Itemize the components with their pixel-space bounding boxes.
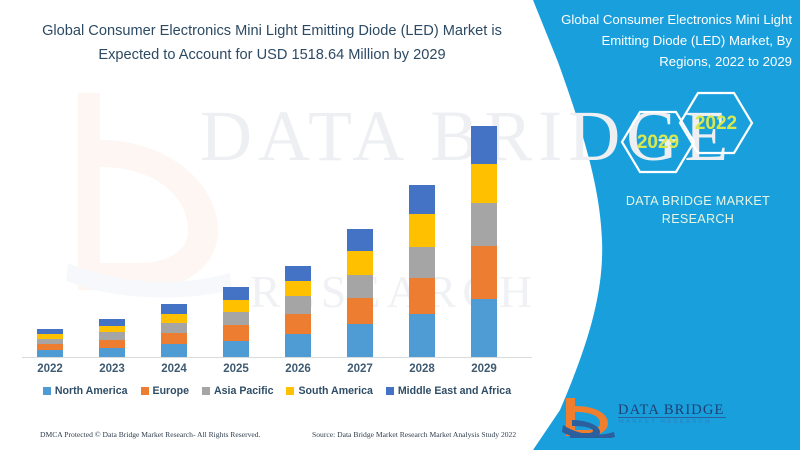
x-axis-tick-2029: 2029 [453,363,515,375]
x-axis-tick-2028: 2028 [391,363,453,375]
bar-segment [471,203,497,245]
bar-segment [347,324,373,358]
bar-segment [99,319,125,326]
bar-segment [223,312,249,325]
bar-segment [471,246,497,299]
legend-label: South America [298,385,372,397]
bar-group-2022 [37,329,63,358]
hexagon-year-badges: 2029 2022 [600,90,790,190]
footer-source: Source: Data Bridge Market Research Mark… [312,430,516,439]
bar-segment [347,229,373,252]
legend-item-asia-pacific[interactable]: Asia Pacific [202,385,273,397]
legend-swatch-icon [43,387,51,395]
bar-segment [161,333,187,345]
bar-group-2024 [161,304,187,358]
bar-segment [161,344,187,358]
bar-segment [285,266,311,281]
panel-title: Global Consumer Electronics Mini Light E… [552,10,796,73]
stacked-bar-chart [22,100,532,358]
bar-segment [161,323,187,333]
bar-group-2027 [347,229,373,358]
footer-copyright: DMCA Protected © Data Bridge Market Rese… [40,430,260,439]
bar-segment [471,126,497,164]
legend-swatch-icon [202,387,210,395]
legend-item-europe[interactable]: Europe [141,385,190,397]
x-axis-tick-2023: 2023 [81,363,143,375]
x-axis-tick-2022: 2022 [19,363,81,375]
x-axis-tick-2024: 2024 [143,363,205,375]
x-axis-tick-2025: 2025 [205,363,267,375]
legend-item-north-america[interactable]: North America [43,385,128,397]
hexagon-2022-label: 2022 [695,113,737,134]
page-title: Global Consumer Electronics Mini Light E… [22,20,522,67]
x-axis-tick-2026: 2026 [267,363,329,375]
bar-segment [285,314,311,335]
legend-label: Europe [153,385,190,397]
x-axis-line [22,357,532,358]
bar-segment [409,278,435,314]
bar-segment [99,332,125,340]
bar-segment [285,296,311,313]
bar-segment [223,325,249,341]
bar-segment [409,185,435,214]
legend-swatch-icon [286,387,294,395]
bar-segment [409,214,435,247]
legend-swatch-icon [386,387,394,395]
bar-segment [347,298,373,324]
bar-group-2023 [99,319,125,358]
legend-swatch-icon [141,387,149,395]
bar-segment [161,314,187,323]
bar-segment [409,247,435,278]
panel-caption: DATA BRIDGE MARKET RESEARCH [600,193,796,229]
bar-segment [223,300,249,312]
bar-group-2029 [471,126,497,358]
bar-segment [471,299,497,358]
bar-segment [471,164,497,204]
bar-group-2025 [223,287,249,358]
legend-item-south-america[interactable]: South America [286,385,372,397]
bar-segment [223,341,249,358]
chart-legend: North AmericaEuropeAsia PacificSouth Ame… [22,385,532,397]
bar-segment [285,334,311,358]
bar-segment [347,251,373,275]
brand-subtitle: MARKET RESEARCH [619,419,712,425]
bar-segment [99,340,125,349]
hexagon-2029-label: 2029 [637,132,679,153]
bar-segment [161,304,187,314]
legend-label: Middle East and Africa [398,385,511,397]
legend-label: Asia Pacific [214,385,273,397]
bar-group-2028 [409,185,435,358]
bar-segment [409,314,435,358]
bar-segment [285,281,311,297]
bar-segment [223,287,249,300]
x-axis-tick-2027: 2027 [329,363,391,375]
legend-item-middle-east-and-africa[interactable]: Middle East and Africa [386,385,511,397]
bar-group-2026 [285,266,311,358]
bar-segment [347,275,373,298]
legend-label: North America [55,385,128,397]
infographic-canvas: DATA BRIDGE RESEARCH Global Consumer Ele… [0,0,800,450]
brand-name: DATA BRIDGE [618,402,724,419]
